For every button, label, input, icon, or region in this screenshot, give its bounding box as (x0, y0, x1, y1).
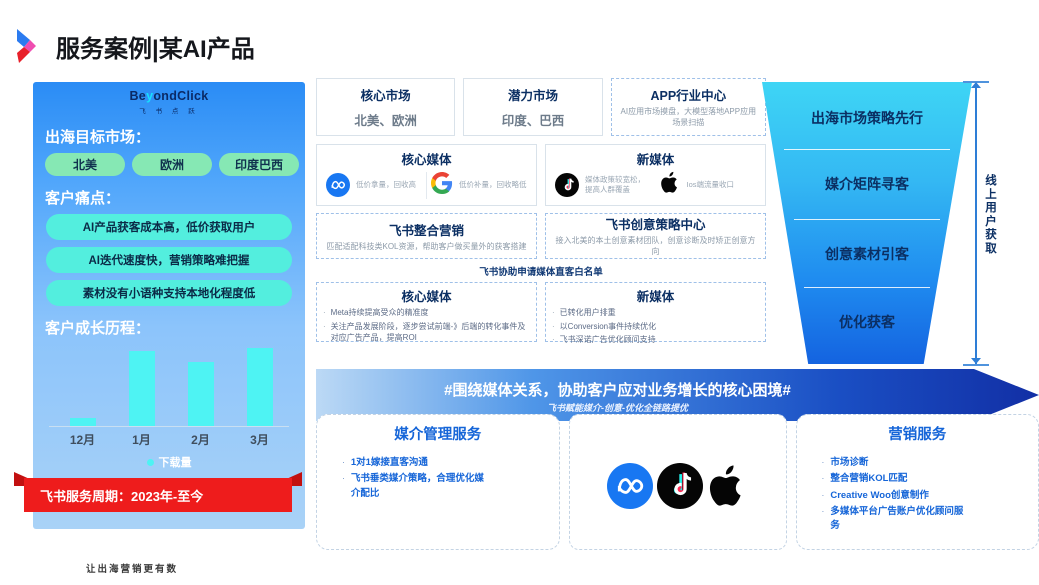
bullet-text: 多媒体平台广告账户优化顾问服务 (830, 505, 972, 534)
service-period-ribbon: 飞书服务周期：2023年-至今 (14, 478, 302, 512)
card-value: 印度、巴西 (502, 110, 565, 129)
bullet-text: 市场诊断 (830, 456, 868, 470)
card-subtitle: AI应用市场摸盘，大模型落地APP应用场景扫描 (620, 107, 757, 129)
bullet-dot-icon: · (822, 505, 825, 534)
bullet-item: ·飞书深诺广告优化顾问支持 (552, 334, 759, 346)
card-title: APP行业中心 (650, 85, 726, 104)
bullet-text: 飞书垂类媒介策略，合理优化媒介配比 (351, 472, 493, 501)
card-core-media: 核心媒体 低价拿量，回收高 (316, 144, 537, 206)
card-title: 潜力市场 (508, 85, 558, 104)
chart-bar (188, 362, 214, 426)
funnel-dimension-cap-bottom (963, 364, 989, 366)
chart-bars (53, 344, 289, 426)
brand-name: BeyondClick (33, 89, 305, 103)
banner-title: #围绕媒体关系，协助客户应对业务增长的核心困境# (316, 379, 919, 400)
media-item-list: 低价拿量，回收高 低价补量，回收略低 (322, 168, 531, 202)
bullet-item: ·1对1嫁接直客沟通 (342, 456, 493, 470)
card-new-media-bullets: 新媒体 ·已转化用户排重 ·以Conversion事件持续优化 ·飞书深诺广告优… (545, 282, 766, 342)
bottom-cards-row: 媒介管理服务 ·1对1嫁接直客沟通 ·飞书垂类媒介策略，合理优化媒介配比 (316, 414, 1039, 550)
card-subtitle: 匹配适配科技类KOL资源，帮助客户做买量外的获客搭建 (326, 242, 526, 253)
chart-bar (70, 418, 96, 426)
market-heading: 出海目标市场： (45, 126, 305, 147)
pain-point: AI产品获客成本高，低价获取用户 (46, 214, 292, 240)
card-title: 飞书创意策略中心 (605, 214, 705, 233)
funnel-dimension-label: 线上用户获取 (984, 175, 998, 256)
chart-x-label: 3月 (242, 431, 278, 448)
card-media-management-service: 媒介管理服务 ·1对1嫁接直客沟通 ·飞书垂类媒介策略，合理优化媒介配比 (316, 414, 560, 550)
footer-slogan: 让出海营销更有数 (86, 561, 178, 575)
apple-icon (660, 170, 681, 200)
bullet-item: ·整合营销KOL匹配 (822, 472, 973, 486)
bullet-dot-icon: · (822, 456, 825, 470)
ribbon-text: 飞书服务周期：2023年-至今 (40, 486, 203, 505)
media-cards-row: 核心媒体 低价拿量，回收高 (316, 144, 766, 206)
market-pill-row: 北美 欧洲 印度巴西 (45, 153, 305, 176)
meta-icon (607, 463, 653, 509)
chevron-logo-icon (14, 26, 44, 66)
card-title: 新媒体 (551, 149, 760, 168)
bullet-text: 以Conversion事件持续优化 (560, 321, 656, 333)
card-title: 媒介管理服务 (394, 423, 481, 444)
funnel-dimension-arrow-up-icon (971, 82, 981, 88)
funnel-divider (794, 219, 940, 220)
funnel-dimension-arrow-down-icon (971, 358, 981, 364)
ribbon-body: 飞书服务周期：2023年-至今 (24, 478, 292, 512)
bullet-text: 关注产品发展阶段，逐步尝试前端-》后端的转化事件及对应广告产品，提高ROI (331, 321, 530, 344)
funnel-step: 媒介矩阵寻客 (762, 174, 972, 194)
card-feishu-integrated-marketing: 飞书整合营销 匹配适配科技类KOL资源，帮助客户做买量外的获客搭建 (316, 213, 537, 259)
bullet-item: ·飞书垂类媒介策略，合理优化媒介配比 (342, 472, 493, 501)
optimization-bullets-row: 核心媒体 ·Meta持续提高受众的精准度 ·关注产品发展阶段，逐步尝试前端-》后… (316, 282, 766, 342)
bullet-dot-icon: · (552, 334, 555, 346)
bullet-item: ·已转化用户排重 (552, 307, 759, 319)
card-title: 核心媒体 (322, 149, 531, 168)
card-potential-market: 潜力市场 印度、巴西 (463, 78, 602, 136)
slide-root: 服务案例|某AI产品 BeyondClick 飞 书 点 跃 出海目标市场： 北… (0, 0, 1039, 585)
card-title: 飞书整合营销 (389, 220, 464, 239)
pain-point: 素材没有小语种支持本地化程度低 (46, 280, 292, 306)
funnel-step: 出海市场策略先行 (762, 108, 972, 128)
middle-region: 核心市场 北美、欧洲 潜力市场 印度、巴西 APP行业中心 AI应用市场摸盘，大… (316, 78, 766, 361)
whitelist-banner: 飞书协助申请媒体直客白名单 (316, 263, 766, 278)
card-new-media: 新媒体 媒体政策较宽松，提高人群覆盖 (545, 144, 766, 206)
card-title: 营销服务 (888, 423, 946, 444)
bullet-item: ·多媒体平台广告账户优化顾问服务 (822, 505, 973, 534)
bullet-dot-icon: · (552, 307, 555, 319)
card-title: 核心市场 (361, 85, 411, 104)
left-panel: BeyondClick 飞 书 点 跃 出海目标市场： 北美 欧洲 印度巴西 客… (33, 82, 305, 529)
growth-heading: 客户成长历程： (45, 317, 305, 338)
pain-point: AI迭代速度快，营销策略难把握 (46, 247, 292, 273)
bullet-text: Creative Woo创意制作 (830, 489, 929, 503)
bullet-item: ·Meta持续提高受众的精准度 (323, 307, 530, 319)
legend-label: 下载量 (159, 454, 192, 470)
media-item-text: 媒体政策较宽松，提高人群覆盖 (585, 175, 652, 196)
card-value: 北美、欧洲 (354, 110, 417, 129)
chart-bar (247, 348, 273, 426)
card-feishu-creative-center: 飞书创意策略中心 接入北美的本土创意素材团队，创意诊断及时矫正创意方向 (545, 213, 766, 259)
media-item-meta: 低价拿量，回收高 (322, 173, 426, 197)
funnel-step: 创意素材引客 (762, 244, 972, 264)
chart-x-labels: 12月1月2月3月 (53, 431, 289, 448)
acquisition-funnel: 出海市场策略先行 媒介矩阵寻客 创意素材引客 优化获客 (762, 82, 972, 364)
funnel-step: 优化获客 (762, 312, 972, 332)
media-item-text: Ios端流量收口 (687, 180, 735, 191)
chart-axis-line (49, 426, 289, 427)
bullet-item: ·以Conversion事件持续优化 (552, 321, 759, 333)
media-item-text: 低价补量，回收略低 (459, 180, 527, 191)
download-bar-chart: 12月1月2月3月 (45, 344, 293, 452)
brand-block: BeyondClick 飞 书 点 跃 (33, 82, 305, 115)
media-item-text: 低价拿量，回收高 (356, 180, 416, 191)
media-item-google: 低价补量，回收略低 (426, 172, 531, 199)
feishu-service-row: 飞书整合营销 匹配适配科技类KOL资源，帮助客户做买量外的获客搭建 飞书创意策略… (316, 213, 766, 259)
card-subtitle: 接入北美的本土创意素材团队，创意诊断及时矫正创意方向 (552, 236, 759, 258)
bullet-dot-icon: · (323, 307, 326, 319)
apple-icon (707, 462, 749, 510)
card-title: 新媒体 (552, 286, 759, 305)
bullet-dot-icon: · (342, 472, 345, 501)
brand-subtitle: 飞 书 点 跃 (33, 105, 305, 115)
chart-x-label: 2月 (183, 431, 219, 448)
chart-x-label: 12月 (65, 431, 101, 448)
bullet-text: 1对1嫁接直客沟通 (351, 456, 428, 470)
card-platform-logos (569, 414, 787, 550)
bullet-item: ·Creative Woo创意制作 (822, 489, 973, 503)
bullet-dot-icon: · (822, 472, 825, 486)
bullet-item: ·关注产品发展阶段，逐步尝试前端-》后端的转化事件及对应广告产品，提高ROI (323, 321, 530, 344)
meta-icon (326, 173, 350, 197)
card-core-media-bullets: 核心媒体 ·Meta持续提高受众的精准度 ·关注产品发展阶段，逐步尝试前端-》后… (316, 282, 537, 342)
chart-legend: 下载量 (33, 454, 305, 470)
card-app-industry-center: APP行业中心 AI应用市场摸盘，大模型落地APP应用场景扫描 (611, 78, 766, 136)
bullet-text: 已转化用户排重 (560, 307, 616, 319)
media-item-list: 媒体政策较宽松，提高人群覆盖 Ios端流量收口 (551, 168, 760, 202)
media-item-apple: Ios端流量收口 (656, 170, 761, 200)
bullet-text: 整合营销KOL匹配 (830, 472, 907, 486)
funnel-divider (804, 287, 930, 288)
market-pill: 欧洲 (132, 153, 212, 176)
page-title: 服务案例|某AI产品 (56, 29, 255, 64)
funnel-dimension-line (975, 82, 977, 364)
pain-heading: 客户痛点： (45, 187, 305, 208)
media-item-tiktok: 媒体政策较宽松，提高人群覆盖 (551, 173, 656, 197)
bullet-list: ·1对1嫁接直客沟通 ·飞书垂类媒介策略，合理优化媒介配比 (317, 456, 493, 503)
banner-subtitle: 飞书赋能媒介-创意-优化全链路提优 (316, 401, 919, 414)
bullet-dot-icon: · (323, 321, 326, 344)
bullet-list: ·市场诊断 ·整合营销KOL匹配 ·Creative Woo创意制作 ·多媒体平… (797, 456, 973, 535)
chart-bar (129, 351, 155, 426)
bullet-text: 飞书深诺广告优化顾问支持 (560, 334, 656, 346)
market-pill: 北美 (45, 153, 125, 176)
slide-header: 服务案例|某AI产品 (14, 26, 255, 66)
tiktok-icon (555, 173, 579, 197)
legend-dot-icon (147, 459, 154, 466)
tiktok-icon (657, 463, 703, 509)
chart-x-label: 1月 (124, 431, 160, 448)
bullet-item: ·市场诊断 (822, 456, 973, 470)
bullet-dot-icon: · (552, 321, 555, 333)
logo-row (607, 462, 749, 510)
google-icon (431, 172, 453, 199)
card-title: 核心媒体 (323, 286, 530, 305)
bullet-dot-icon: · (822, 489, 825, 503)
bullet-dot-icon: · (342, 456, 345, 470)
bullet-text: Meta持续提高受众的精准度 (331, 307, 429, 319)
market-cards-row: 核心市场 北美、欧洲 潜力市场 印度、巴西 APP行业中心 AI应用市场摸盘，大… (316, 78, 766, 136)
card-marketing-service: 营销服务 ·市场诊断 ·整合营销KOL匹配 ·Creative Woo创意制作 … (796, 414, 1039, 550)
card-core-market: 核心市场 北美、欧洲 (316, 78, 455, 136)
funnel-divider (784, 149, 950, 150)
market-pill: 印度巴西 (219, 153, 299, 176)
